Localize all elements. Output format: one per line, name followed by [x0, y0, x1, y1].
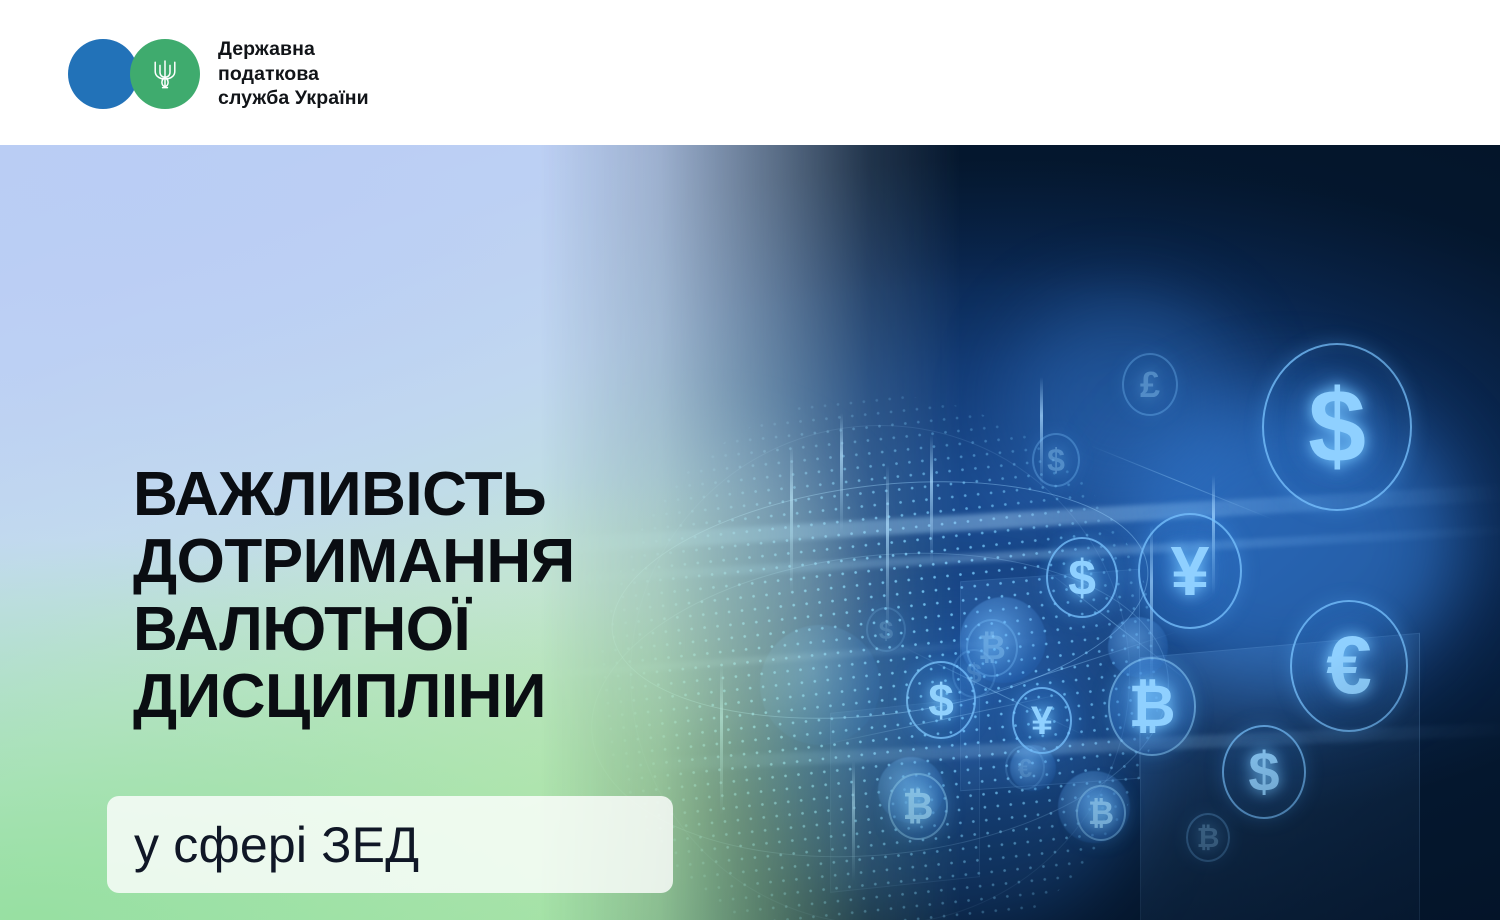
data-bar: [930, 435, 933, 565]
data-bar: [720, 665, 723, 815]
yen-coin-small-icon: ¥: [1012, 687, 1072, 754]
dollar-coin-mid-icon: $: [1046, 537, 1118, 618]
yen-coin-icon: ¥: [1138, 513, 1242, 629]
subtitle-badge: у сфері ЗЕД: [107, 796, 673, 893]
blue-circle-icon: [68, 39, 138, 109]
dollar-coin-large-icon: $: [1262, 343, 1412, 511]
dollar-coin-edge-icon: $: [952, 649, 996, 698]
hero-stage: $¥€£$$₿$₿₿₿¥$$$₿€ ВАЖЛИВІСТЬ ДОТРИМАННЯ …: [0, 145, 1500, 920]
bitcoin-coin-a-icon: ₿: [1108, 657, 1196, 756]
organization-logo[interactable]: Державна податкова служба України: [68, 37, 369, 111]
tax-service-banner: Державна податкова служба України: [0, 0, 1500, 920]
euro-coin-small-icon: €: [1005, 745, 1045, 790]
bitcoin-coin-b-icon: ₿: [1076, 785, 1126, 841]
data-bar: [790, 445, 793, 595]
header-bar: Державна податкова служба України: [0, 0, 1500, 145]
bitcoin-coin-c-icon: ₿: [888, 773, 948, 840]
bitcoin-coin-e-icon: ₿: [1186, 813, 1230, 862]
subtitle-text: у сфері ЗЕД: [134, 820, 419, 870]
green-circle-icon: [130, 39, 200, 109]
pound-coin-small-icon: £: [1122, 353, 1178, 416]
dollar-coin-far-icon: $: [866, 607, 906, 652]
data-bar: [840, 413, 843, 533]
page-title: ВАЖЛИВІСТЬ ДОТРИМАННЯ ВАЛЮТНОЇ ДИСЦИПЛІН…: [133, 461, 575, 730]
glow-blob: [760, 625, 880, 745]
ukraine-trident-icon: [152, 57, 178, 91]
dollar-coin-small-a-icon: $: [1032, 433, 1080, 487]
euro-coin-large-icon: €: [1290, 600, 1408, 732]
organization-name: Державна податкова служба України: [218, 37, 369, 111]
dollar-coin-lower-icon: $: [1222, 725, 1306, 819]
logo-marks: [68, 39, 200, 109]
